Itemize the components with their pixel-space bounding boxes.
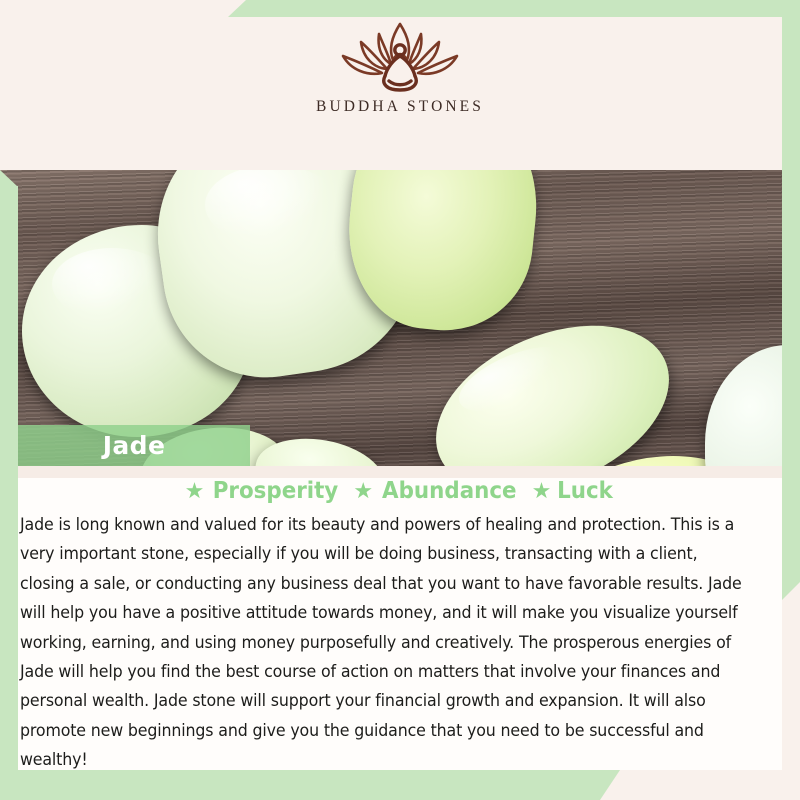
stone-info-poster: BUDDHA STONES Jade ★Prosp: [0, 0, 800, 800]
decor-right-tail: [782, 582, 800, 600]
brand-name: BUDDHA STONES: [0, 98, 800, 116]
panel-top-accent: [18, 466, 782, 478]
poster-header: BUDDHA STONES: [0, 0, 800, 170]
decor-left-bar: [0, 186, 18, 800]
star-icon: ★: [185, 478, 205, 504]
keyword-abundance: Abundance: [382, 478, 516, 504]
keyword-row: ★Prosperity★Abundance★Luck: [18, 478, 782, 504]
decor-top-right-bar: [228, 0, 800, 17]
stone-name-label: Jade: [103, 431, 166, 460]
content-panel: ★Prosperity★Abundance★Luck Jade is long …: [18, 466, 782, 770]
star-icon: ★: [353, 478, 373, 504]
decor-bottom-bar: [0, 770, 620, 800]
stone-photo: [0, 170, 800, 466]
stone-name-badge: Jade: [18, 425, 250, 466]
stone-description: Jade is long known and valued for its be…: [20, 510, 755, 775]
keyword-luck: Luck: [558, 478, 614, 504]
lotus-meditation-icon: [325, 18, 475, 94]
decor-right-bar: [782, 0, 800, 582]
star-icon: ★: [532, 478, 552, 504]
keyword-prosperity: Prosperity: [213, 478, 339, 504]
brand-logo: BUDDHA STONES: [0, 18, 800, 116]
